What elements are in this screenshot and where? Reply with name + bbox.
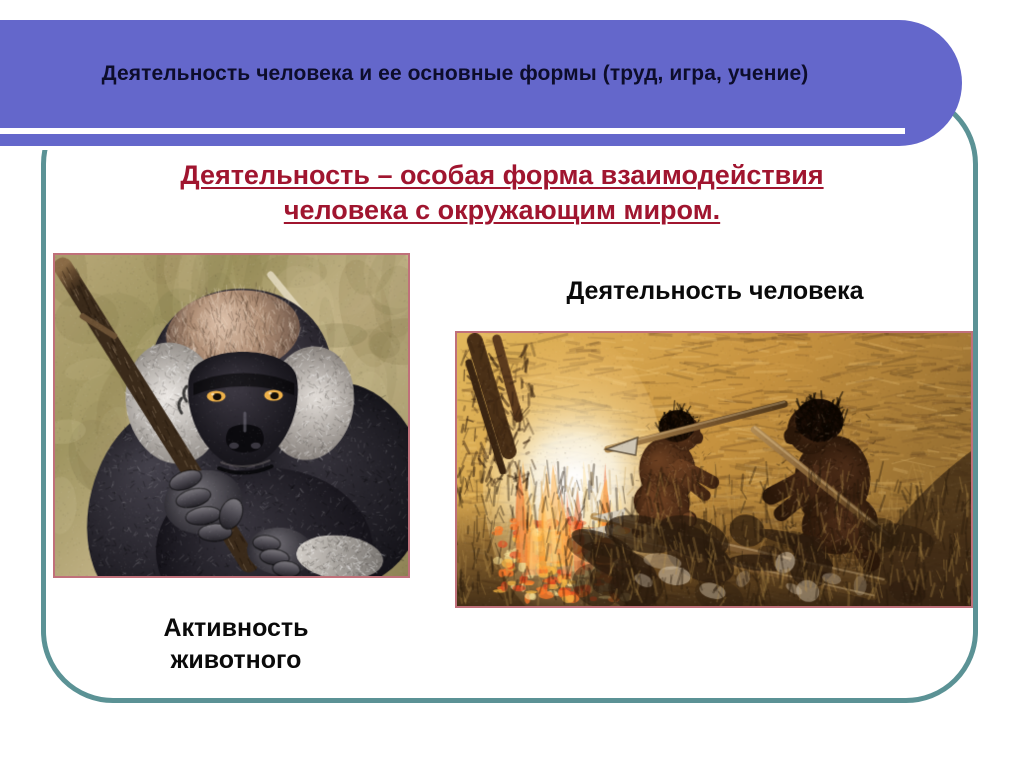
caption-human-activity: Деятельность человека <box>455 277 975 306</box>
slide-canvas: Деятельность человека и ее основные форм… <box>0 0 1024 767</box>
gorilla-photo-canvas <box>55 255 408 576</box>
definition-line-2: человека с окружающим миром. <box>62 193 942 228</box>
caption-animal-activity: Активность животного <box>62 612 410 676</box>
prehistoric-hunters-illustration <box>455 331 973 608</box>
definition-line-1: Деятельность – особая форма взаимодейств… <box>62 158 942 193</box>
caption-animal-activity-line-2: животного <box>62 644 410 676</box>
hunters-photo-canvas <box>457 333 971 606</box>
title-banner: Деятельность человека и ее основные форм… <box>0 20 962 146</box>
definition-heading: Деятельность – особая форма взаимодейств… <box>62 158 942 228</box>
title-banner-rule <box>0 128 905 134</box>
caption-animal-activity-line-1: Активность <box>62 612 410 644</box>
gorilla-holding-stick-photo <box>53 253 410 578</box>
slide-title: Деятельность человека и ее основные форм… <box>0 20 930 128</box>
